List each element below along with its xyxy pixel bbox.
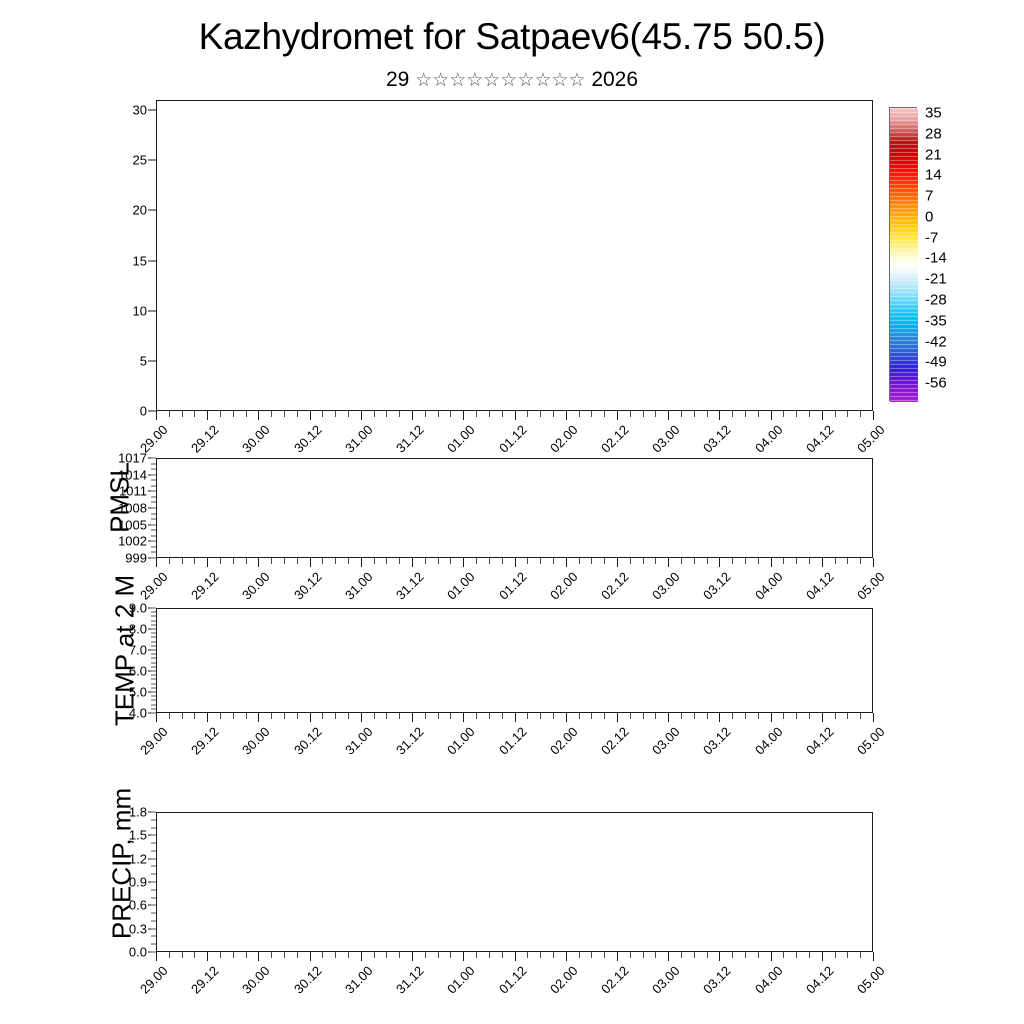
x-tick-minor bbox=[796, 713, 797, 719]
x-tick-minor bbox=[579, 713, 580, 719]
x-axis-label: 03.00 bbox=[649, 963, 683, 997]
x-tick-minor bbox=[758, 713, 759, 719]
x-axis-label: 01.00 bbox=[444, 422, 478, 456]
x-tick-major bbox=[617, 558, 618, 567]
x-tick-major bbox=[617, 411, 618, 420]
x-tick-minor bbox=[220, 713, 221, 719]
y-tick-minor bbox=[151, 474, 156, 475]
colorbar-tick-label: -7 bbox=[925, 229, 938, 246]
x-axis-label: 02.12 bbox=[598, 569, 632, 603]
colorbar-tick-label: -42 bbox=[925, 333, 947, 350]
y-tick-minor bbox=[151, 835, 156, 836]
y-tick-minor bbox=[151, 700, 156, 701]
x-axis-label: 29.12 bbox=[188, 422, 222, 456]
x-tick-major bbox=[873, 952, 874, 961]
x-tick-minor bbox=[579, 558, 580, 564]
y-tick-minor bbox=[151, 491, 156, 492]
x-axis-label: 04.12 bbox=[803, 724, 837, 758]
y-tick-minor bbox=[151, 889, 156, 890]
x-tick-minor bbox=[681, 558, 682, 564]
x-tick-minor bbox=[284, 558, 285, 564]
y-axis-label: 20 bbox=[133, 203, 156, 218]
x-tick-minor bbox=[540, 952, 541, 958]
x-tick-major bbox=[566, 558, 567, 567]
x-tick-major bbox=[463, 558, 464, 567]
x-axis-label: 31.12 bbox=[393, 569, 427, 603]
x-tick-minor bbox=[322, 411, 323, 417]
x-tick-minor bbox=[374, 558, 375, 564]
x-tick-major bbox=[873, 558, 874, 567]
x-axis-label: 02.12 bbox=[598, 724, 632, 758]
x-tick-major bbox=[361, 952, 362, 961]
x-tick-minor bbox=[246, 952, 247, 958]
x-tick-major bbox=[873, 411, 874, 420]
x-axis-label: 30.00 bbox=[239, 724, 273, 758]
y-axis-label: 25 bbox=[133, 153, 156, 168]
x-axis-label: 31.00 bbox=[342, 569, 376, 603]
x-tick-minor bbox=[348, 713, 349, 719]
x-axis-label: 30.12 bbox=[291, 422, 325, 456]
x-tick-minor bbox=[579, 952, 580, 958]
colorbar-tick-label: -28 bbox=[925, 291, 947, 308]
y-axis-label: 15 bbox=[133, 253, 156, 268]
x-tick-major bbox=[668, 952, 669, 961]
x-tick-minor bbox=[297, 713, 298, 719]
x-axis-label: 04.00 bbox=[752, 963, 786, 997]
x-tick-minor bbox=[399, 952, 400, 958]
x-tick-minor bbox=[284, 952, 285, 958]
x-axis-label: 03.12 bbox=[700, 569, 734, 603]
x-tick-minor bbox=[527, 952, 528, 958]
y-tick-minor bbox=[151, 485, 156, 486]
x-tick-minor bbox=[835, 713, 836, 719]
x-axis-label: 04.00 bbox=[752, 422, 786, 456]
x-tick-minor bbox=[835, 952, 836, 958]
x-tick-minor bbox=[271, 713, 272, 719]
x-tick-minor bbox=[540, 558, 541, 564]
x-axis-label: 04.00 bbox=[752, 724, 786, 758]
x-tick-minor bbox=[681, 713, 682, 719]
x-tick-minor bbox=[591, 411, 592, 417]
x-axis-label: 03.12 bbox=[700, 963, 734, 997]
x-tick-minor bbox=[579, 411, 580, 417]
x-tick-minor bbox=[348, 558, 349, 564]
x-tick-minor bbox=[707, 411, 708, 417]
x-tick-minor bbox=[194, 952, 195, 958]
x-tick-major bbox=[463, 411, 464, 420]
x-tick-major bbox=[156, 411, 157, 420]
y-axis-label: 0 bbox=[140, 404, 156, 419]
x-tick-major bbox=[515, 558, 516, 567]
x-tick-minor bbox=[540, 713, 541, 719]
x-axis-label: 04.00 bbox=[752, 569, 786, 603]
x-tick-minor bbox=[809, 952, 810, 958]
x-tick-major bbox=[361, 411, 362, 420]
x-tick-minor bbox=[169, 952, 170, 958]
x-tick-minor bbox=[182, 713, 183, 719]
x-axis-label: 29.12 bbox=[188, 963, 222, 997]
x-tick-minor bbox=[489, 411, 490, 417]
y-tick-minor bbox=[151, 671, 156, 672]
x-tick-minor bbox=[643, 558, 644, 564]
x-tick-minor bbox=[297, 558, 298, 564]
x-tick-minor bbox=[630, 713, 631, 719]
y-tick-minor bbox=[151, 687, 156, 688]
x-tick-minor bbox=[233, 713, 234, 719]
y-tick-minor bbox=[151, 480, 156, 481]
x-axis-label: 01.00 bbox=[444, 569, 478, 603]
x-tick-minor bbox=[809, 713, 810, 719]
forecast-meteogram-page: Kazhydromet for Satpaev6(45.75 50.5) 29 … bbox=[0, 0, 1024, 1024]
colorbar-tick-label: -49 bbox=[925, 354, 947, 371]
x-axis-label: 02.00 bbox=[547, 422, 581, 456]
x-tick-minor bbox=[194, 411, 195, 417]
x-axis-label: 30.00 bbox=[239, 569, 273, 603]
x-tick-major bbox=[873, 713, 874, 722]
y-tick-minor bbox=[151, 897, 156, 898]
x-tick-minor bbox=[335, 952, 336, 958]
x-tick-minor bbox=[386, 411, 387, 417]
y-tick-minor bbox=[151, 708, 156, 709]
x-tick-minor bbox=[796, 558, 797, 564]
x-tick-minor bbox=[169, 558, 170, 564]
x-axis-label: 02.00 bbox=[547, 569, 581, 603]
x-axis-label: 02.00 bbox=[547, 963, 581, 997]
x-tick-minor bbox=[630, 558, 631, 564]
x-tick-minor bbox=[847, 713, 848, 719]
y-tick-minor bbox=[151, 458, 156, 459]
x-tick-major bbox=[566, 713, 567, 722]
x-axis-label: 31.00 bbox=[342, 963, 376, 997]
x-tick-minor bbox=[374, 952, 375, 958]
x-tick-minor bbox=[540, 411, 541, 417]
x-tick-minor bbox=[847, 411, 848, 417]
x-tick-major bbox=[412, 411, 413, 420]
x-tick-major bbox=[156, 952, 157, 961]
x-axis-label: 01.00 bbox=[444, 963, 478, 997]
y-tick-minor bbox=[151, 650, 156, 651]
x-tick-minor bbox=[553, 558, 554, 564]
x-tick-minor bbox=[322, 558, 323, 564]
x-axis-label: 31.00 bbox=[342, 724, 376, 758]
x-tick-minor bbox=[502, 411, 503, 417]
x-tick-major bbox=[515, 952, 516, 961]
x-tick-major bbox=[566, 952, 567, 961]
subtitle-day: 29 bbox=[386, 68, 409, 91]
x-tick-major bbox=[310, 558, 311, 567]
x-tick-major bbox=[463, 952, 464, 961]
x-tick-major bbox=[361, 558, 362, 567]
x-tick-minor bbox=[374, 713, 375, 719]
x-tick-minor bbox=[630, 411, 631, 417]
y-tick-minor bbox=[151, 905, 156, 906]
y-tick-minor bbox=[151, 524, 156, 525]
x-tick-minor bbox=[233, 411, 234, 417]
x-tick-minor bbox=[847, 558, 848, 564]
cross-section-frame bbox=[156, 100, 873, 411]
x-tick-minor bbox=[835, 411, 836, 417]
y-tick-minor bbox=[151, 866, 156, 867]
x-tick-major bbox=[207, 713, 208, 722]
x-axis-label: 30.00 bbox=[239, 963, 273, 997]
x-tick-minor bbox=[348, 952, 349, 958]
x-tick-minor bbox=[643, 411, 644, 417]
x-axis-label: 05.00 bbox=[854, 569, 888, 603]
x-tick-minor bbox=[182, 558, 183, 564]
x-tick-major bbox=[668, 558, 669, 567]
x-tick-minor bbox=[643, 713, 644, 719]
y-tick-minor bbox=[151, 944, 156, 945]
x-tick-minor bbox=[745, 952, 746, 958]
x-tick-major bbox=[719, 411, 720, 420]
x-tick-minor bbox=[386, 713, 387, 719]
y-tick-minor bbox=[151, 679, 156, 680]
colorbar-tick-label: 35 bbox=[925, 105, 942, 122]
x-tick-minor bbox=[502, 713, 503, 719]
x-tick-minor bbox=[476, 713, 477, 719]
x-tick-major bbox=[822, 713, 823, 722]
x-tick-minor bbox=[604, 411, 605, 417]
y-axis-label: 10 bbox=[133, 303, 156, 318]
x-axis-label: 03.12 bbox=[700, 724, 734, 758]
x-tick-minor bbox=[194, 558, 195, 564]
x-tick-major bbox=[258, 952, 259, 961]
y-tick-minor bbox=[151, 541, 156, 542]
x-tick-minor bbox=[438, 713, 439, 719]
colorbar-tick-label: 21 bbox=[925, 146, 942, 163]
y-tick-minor bbox=[151, 546, 156, 547]
y-tick-minor bbox=[151, 654, 156, 655]
x-tick-major bbox=[412, 558, 413, 567]
x-tick-minor bbox=[335, 558, 336, 564]
x-axis-label: 05.00 bbox=[854, 963, 888, 997]
y-tick-minor bbox=[151, 469, 156, 470]
cross-section-panel: 05101520253029.0029.1230.0030.1231.0031.… bbox=[156, 100, 873, 411]
x-tick-major bbox=[412, 952, 413, 961]
x-tick-major bbox=[668, 411, 669, 420]
x-tick-minor bbox=[758, 952, 759, 958]
x-tick-minor bbox=[655, 952, 656, 958]
x-tick-minor bbox=[233, 558, 234, 564]
x-tick-minor bbox=[476, 411, 477, 417]
x-tick-minor bbox=[553, 952, 554, 958]
x-tick-minor bbox=[438, 558, 439, 564]
x-tick-minor bbox=[284, 411, 285, 417]
x-axis-label: 01.00 bbox=[444, 724, 478, 758]
x-tick-minor bbox=[271, 952, 272, 958]
x-tick-minor bbox=[591, 713, 592, 719]
y-tick-minor bbox=[151, 519, 156, 520]
x-tick-major bbox=[156, 713, 157, 722]
x-tick-major bbox=[361, 713, 362, 722]
x-axis-label: 05.00 bbox=[854, 724, 888, 758]
x-tick-minor bbox=[591, 558, 592, 564]
x-tick-major bbox=[771, 411, 772, 420]
x-tick-minor bbox=[169, 713, 170, 719]
temp-frame bbox=[156, 608, 873, 713]
y-tick-minor bbox=[151, 666, 156, 667]
x-tick-minor bbox=[860, 558, 861, 564]
subtitle-month-glyphs: ☆☆☆☆☆☆☆☆☆☆ bbox=[415, 70, 585, 91]
y-tick-minor bbox=[151, 637, 156, 638]
x-tick-minor bbox=[630, 952, 631, 958]
x-tick-minor bbox=[847, 952, 848, 958]
x-axis-label: 30.12 bbox=[291, 963, 325, 997]
x-tick-minor bbox=[233, 952, 234, 958]
y-tick-minor bbox=[151, 683, 156, 684]
x-tick-minor bbox=[835, 558, 836, 564]
x-tick-minor bbox=[732, 558, 733, 564]
y-tick-minor bbox=[151, 535, 156, 536]
y-tick-minor bbox=[151, 463, 156, 464]
x-tick-minor bbox=[694, 952, 695, 958]
y-tick-minor bbox=[151, 658, 156, 659]
x-tick-minor bbox=[399, 713, 400, 719]
x-tick-minor bbox=[335, 411, 336, 417]
x-tick-major bbox=[515, 713, 516, 722]
x-axis-label: 29.12 bbox=[188, 724, 222, 758]
x-axis-label: 30.12 bbox=[291, 569, 325, 603]
x-tick-minor bbox=[681, 411, 682, 417]
x-tick-minor bbox=[169, 411, 170, 417]
x-tick-major bbox=[822, 558, 823, 567]
x-tick-minor bbox=[489, 558, 490, 564]
x-tick-major bbox=[258, 558, 259, 567]
x-tick-minor bbox=[246, 558, 247, 564]
x-tick-minor bbox=[450, 952, 451, 958]
x-tick-minor bbox=[732, 411, 733, 417]
x-tick-major bbox=[719, 713, 720, 722]
x-tick-major bbox=[822, 411, 823, 420]
temperature-colorbar bbox=[889, 107, 917, 401]
x-tick-minor bbox=[604, 558, 605, 564]
x-axis-label: 04.12 bbox=[803, 422, 837, 456]
x-tick-minor bbox=[745, 713, 746, 719]
x-tick-major bbox=[207, 558, 208, 567]
pmsl-panel: 99910021005100810111014101729.0029.1230.… bbox=[156, 458, 873, 558]
x-tick-minor bbox=[246, 411, 247, 417]
y-tick-minor bbox=[151, 812, 156, 813]
x-tick-minor bbox=[783, 558, 784, 564]
x-tick-minor bbox=[681, 952, 682, 958]
x-tick-minor bbox=[220, 411, 221, 417]
x-axis-label: 31.12 bbox=[393, 963, 427, 997]
x-tick-major bbox=[822, 952, 823, 961]
x-tick-minor bbox=[450, 411, 451, 417]
x-axis-label: 29.00 bbox=[137, 963, 171, 997]
x-tick-minor bbox=[643, 952, 644, 958]
y-tick-minor bbox=[151, 641, 156, 642]
x-tick-minor bbox=[783, 411, 784, 417]
x-axis-label: 02.00 bbox=[547, 724, 581, 758]
x-tick-minor bbox=[425, 713, 426, 719]
pmsl-frame bbox=[156, 458, 873, 558]
x-axis-label: 31.00 bbox=[342, 422, 376, 456]
x-tick-major bbox=[310, 713, 311, 722]
page-subtitle: 29 ☆☆☆☆☆☆☆☆☆☆ 2026 bbox=[0, 68, 1024, 92]
x-tick-minor bbox=[284, 713, 285, 719]
x-tick-minor bbox=[297, 952, 298, 958]
x-axis-label: 01.12 bbox=[495, 569, 529, 603]
x-tick-minor bbox=[450, 713, 451, 719]
x-tick-major bbox=[617, 952, 618, 961]
x-tick-minor bbox=[271, 558, 272, 564]
x-tick-minor bbox=[322, 952, 323, 958]
x-tick-minor bbox=[655, 411, 656, 417]
x-tick-minor bbox=[450, 558, 451, 564]
x-tick-minor bbox=[758, 411, 759, 417]
colorbar-tick-label: -21 bbox=[925, 271, 947, 288]
y-tick-minor bbox=[151, 608, 156, 609]
colorbar-tick-label: 0 bbox=[925, 208, 933, 225]
x-tick-minor bbox=[438, 952, 439, 958]
x-tick-major bbox=[412, 713, 413, 722]
y-tick-minor bbox=[151, 530, 156, 531]
x-tick-minor bbox=[732, 952, 733, 958]
x-tick-minor bbox=[796, 411, 797, 417]
x-tick-major bbox=[258, 411, 259, 420]
y-tick-minor bbox=[151, 496, 156, 497]
x-axis-label: 02.12 bbox=[598, 422, 632, 456]
x-tick-minor bbox=[694, 713, 695, 719]
y-tick-minor bbox=[151, 513, 156, 514]
x-axis-label: 03.00 bbox=[649, 569, 683, 603]
x-tick-minor bbox=[335, 713, 336, 719]
x-tick-minor bbox=[796, 952, 797, 958]
x-tick-major bbox=[771, 952, 772, 961]
x-tick-minor bbox=[502, 952, 503, 958]
x-tick-minor bbox=[425, 558, 426, 564]
x-tick-minor bbox=[745, 558, 746, 564]
y-tick-minor bbox=[151, 624, 156, 625]
colorbar-tick-label: 28 bbox=[925, 125, 942, 142]
x-tick-minor bbox=[220, 952, 221, 958]
x-axis-label: 04.12 bbox=[803, 569, 837, 603]
y-tick-minor bbox=[151, 692, 156, 693]
x-tick-major bbox=[515, 411, 516, 420]
x-axis-label: 31.12 bbox=[393, 724, 427, 758]
y-tick-minor bbox=[151, 696, 156, 697]
page-title: Kazhydromet for Satpaev6(45.75 50.5) bbox=[0, 16, 1024, 58]
x-tick-minor bbox=[489, 713, 490, 719]
x-tick-minor bbox=[591, 952, 592, 958]
y-tick-minor bbox=[151, 620, 156, 621]
y-tick-minor bbox=[151, 629, 156, 630]
x-axis-label: 03.00 bbox=[649, 422, 683, 456]
x-tick-minor bbox=[425, 411, 426, 417]
x-tick-minor bbox=[322, 713, 323, 719]
x-tick-minor bbox=[553, 411, 554, 417]
x-tick-minor bbox=[783, 952, 784, 958]
x-tick-minor bbox=[655, 558, 656, 564]
x-axis-label: 30.00 bbox=[239, 422, 273, 456]
y-tick-minor bbox=[151, 874, 156, 875]
x-tick-major bbox=[207, 411, 208, 420]
x-tick-minor bbox=[860, 411, 861, 417]
x-tick-minor bbox=[386, 558, 387, 564]
x-tick-minor bbox=[182, 411, 183, 417]
x-tick-minor bbox=[732, 713, 733, 719]
y-tick-minor bbox=[151, 552, 156, 553]
x-tick-minor bbox=[707, 713, 708, 719]
x-tick-minor bbox=[860, 713, 861, 719]
y-tick-minor bbox=[151, 920, 156, 921]
x-tick-minor bbox=[553, 713, 554, 719]
x-tick-major bbox=[566, 411, 567, 420]
y-axis-label: 5 bbox=[140, 353, 156, 368]
x-tick-minor bbox=[809, 558, 810, 564]
x-tick-minor bbox=[476, 558, 477, 564]
